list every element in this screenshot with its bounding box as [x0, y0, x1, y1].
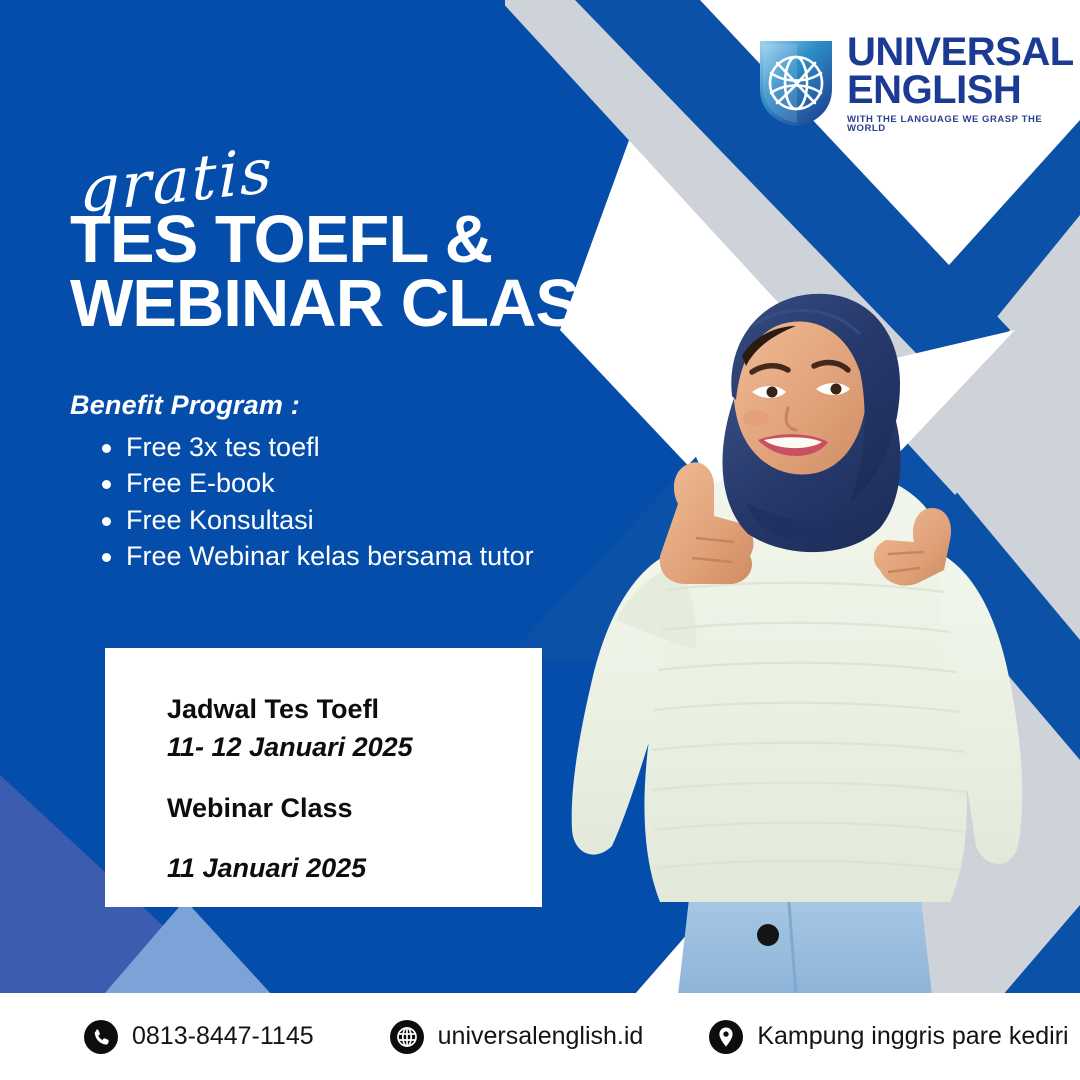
- logo-tagline: WITH THE LANGUAGE WE GRASP THE WORLD: [847, 115, 1074, 133]
- toefl-schedule-label: Jadwal Tes Toefl: [167, 690, 542, 728]
- headline-eyebrow: gratis: [80, 139, 274, 222]
- webinar-schedule-label: Webinar Class: [167, 789, 542, 827]
- location-text: Kampung inggris pare kediri: [757, 1022, 1068, 1051]
- phone-number: 0813-8447-1145: [132, 1022, 314, 1051]
- list-item: Free E-book: [94, 465, 670, 501]
- webinar-schedule-date: 11 Januari 2025: [167, 849, 542, 887]
- website-url: universalenglish.id: [438, 1022, 644, 1051]
- list-item: Free Webinar kelas bersama tutor: [94, 538, 670, 574]
- benefits-list: Free 3x tes toefl Free E-book Free Konsu…: [70, 429, 670, 575]
- logo-line-2: ENGLISH: [847, 71, 1074, 109]
- page-title: TES TOEFL & WEBINAR CLASS: [70, 208, 710, 335]
- benefits-heading: Benefit Program :: [70, 390, 670, 421]
- phone-icon: [84, 1020, 118, 1054]
- benefits-block: Benefit Program : Free 3x tes toefl Free…: [70, 390, 670, 575]
- contact-location[interactable]: Kampung inggris pare kediri: [709, 1020, 1068, 1054]
- schedule-card: Jadwal Tes Toefl 11- 12 Januari 2025 Web…: [105, 648, 542, 907]
- logo-line-1: UNIVERSAL: [847, 33, 1074, 71]
- promo-flyer: UNIVERSAL ENGLISH WITH THE LANGUAGE WE G…: [0, 0, 1080, 1080]
- title-line-2: WEBINAR CLASS: [70, 272, 710, 336]
- globe-icon: [390, 1020, 424, 1054]
- list-item: Free 3x tes toefl: [94, 429, 670, 465]
- contact-phone[interactable]: 0813-8447-1145: [84, 1020, 314, 1054]
- brand-logo: UNIVERSAL ENGLISH WITH THE LANGUAGE WE G…: [757, 28, 1057, 138]
- toefl-schedule-date: 11- 12 Januari 2025: [167, 728, 542, 766]
- contact-footer: 0813-8447-1145 universalenglish.id: [0, 993, 1080, 1080]
- contact-website[interactable]: universalenglish.id: [390, 1020, 644, 1054]
- list-item: Free Konsultasi: [94, 502, 670, 538]
- globe-shield-icon: [757, 37, 835, 129]
- map-pin-icon: [709, 1020, 743, 1054]
- headline-block: gratis TES TOEFL & WEBINAR CLASS: [70, 160, 710, 335]
